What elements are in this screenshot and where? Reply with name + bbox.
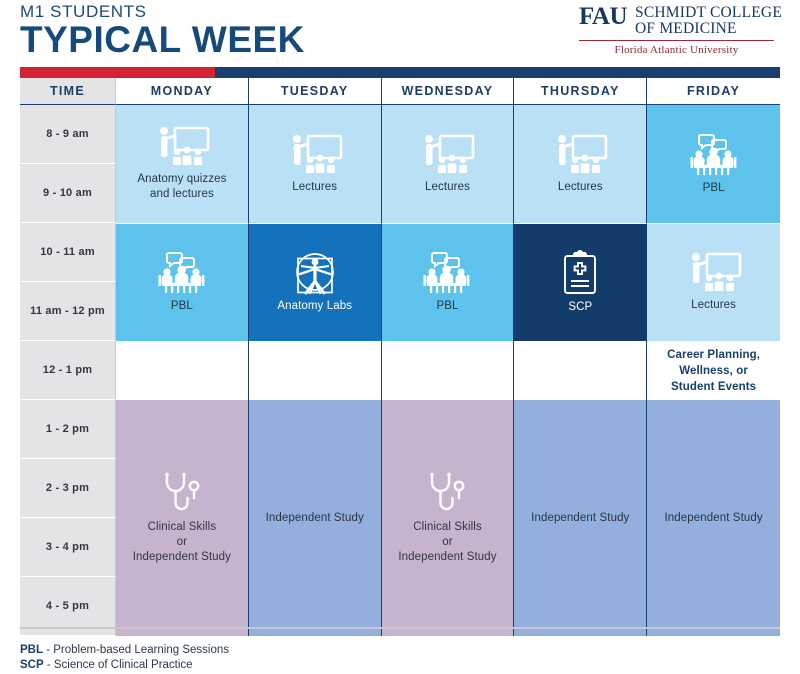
legend: PBL - Problem-based Learning Sessions SC…	[20, 643, 229, 673]
logo-line-2: OF MEDICINE	[635, 21, 782, 37]
time-cell: 3 - 4 pm	[20, 518, 116, 577]
cell-label: Independent Study	[266, 511, 364, 526]
cell-wednesday-noon[interactable]	[382, 341, 515, 400]
logo-divider	[579, 40, 774, 41]
cell-monday-noon[interactable]	[116, 341, 249, 400]
column-header-wednesday: WEDNESDAY	[382, 78, 515, 105]
time-cell: 2 - 3 pm	[20, 459, 116, 518]
cell-label: PBL	[436, 299, 458, 314]
cell-label: Independent Study	[531, 511, 629, 526]
cell-monday-morning[interactable]: Anatomy quizzes and lectures	[116, 105, 249, 223]
cell-label: Clinical Skills or Independent Study	[398, 520, 496, 565]
column-header-thursday: THURSDAY	[514, 78, 647, 105]
pbl-icon	[685, 133, 743, 177]
cell-friday-afternoon[interactable]: Independent Study	[647, 400, 780, 636]
cell-friday-morning[interactable]: PBL	[647, 105, 780, 223]
cell-tuesday-morning[interactable]: Lectures	[249, 105, 382, 223]
cell-monday-midday[interactable]: PBL	[116, 223, 249, 341]
stethoscope-icon	[424, 472, 470, 516]
lecture-icon	[418, 134, 476, 176]
time-cell: 8 - 9 am	[20, 105, 116, 164]
time-cell: 10 - 11 am	[20, 223, 116, 282]
cell-label: Lectures	[558, 180, 603, 195]
legend-item-pbl: PBL - Problem-based Learning Sessions	[20, 643, 229, 658]
title-block: M1 STUDENTS TYPICAL WEEK	[20, 2, 305, 60]
grid-bottom-border	[20, 627, 780, 629]
cell-wednesday-afternoon[interactable]: Clinical Skills or Independent Study	[382, 400, 515, 636]
cell-label: SCP	[568, 300, 592, 315]
cell-tuesday-midday[interactable]: Anatomy Labs	[249, 223, 382, 341]
cell-wednesday-midday[interactable]: PBL	[382, 223, 515, 341]
cell-label: Independent Study	[664, 511, 762, 526]
lecture-icon	[685, 252, 743, 294]
legend-abbr-scp: SCP	[20, 659, 44, 671]
cell-thursday-morning[interactable]: Lectures	[514, 105, 647, 223]
legend-abbr-pbl: PBL	[20, 644, 43, 656]
time-cell: 12 - 1 pm	[20, 341, 116, 400]
legend-text-pbl: - Problem-based Learning Sessions	[43, 644, 229, 656]
cell-label: Lectures	[292, 180, 337, 195]
time-cell: 9 - 10 am	[20, 164, 116, 223]
cell-label: Clinical Skills or Independent Study	[133, 520, 231, 565]
legend-item-scp: SCP - Science of Clinical Practice	[20, 658, 229, 673]
cell-wednesday-morning[interactable]: Lectures	[382, 105, 515, 223]
cell-tuesday-noon[interactable]	[249, 341, 382, 400]
legend-text-scp: - Science of Clinical Practice	[44, 659, 193, 671]
cell-thursday-midday[interactable]: SCP	[514, 223, 647, 341]
cell-label: Anatomy Labs	[277, 299, 352, 314]
cell-label: PBL	[703, 181, 725, 196]
cell-thursday-afternoon[interactable]: Independent Study	[514, 400, 647, 636]
pbl-icon	[153, 251, 211, 295]
page-title: TYPICAL WEEK	[20, 20, 305, 60]
page-header: M1 STUDENTS TYPICAL WEEK FAU SCHMIDT COL…	[0, 0, 800, 66]
logo-subtitle: Florida Atlantic University	[579, 44, 774, 56]
cell-tuesday-afternoon[interactable]: Independent Study	[249, 400, 382, 636]
lecture-icon	[551, 134, 609, 176]
cell-friday-noon[interactable]: Career Planning, Wellness, or Student Ev…	[647, 341, 780, 400]
cell-label: Anatomy quizzes and lectures	[137, 172, 226, 202]
column-header-monday: MONDAY	[116, 78, 249, 105]
cell-thursday-noon[interactable]	[514, 341, 647, 400]
pbl-icon	[418, 251, 476, 295]
cell-label: Lectures	[425, 180, 470, 195]
cell-label: PBL	[171, 299, 193, 314]
column-header-tuesday: TUESDAY	[249, 78, 382, 105]
clipboard-medical-icon	[560, 250, 600, 296]
column-header-friday: FRIDAY	[647, 78, 780, 105]
fau-wordmark-icon: FAU	[579, 4, 627, 29]
cell-label: Career Planning, Wellness, or Student Ev…	[667, 347, 760, 395]
stethoscope-icon	[159, 472, 205, 516]
cell-friday-midday[interactable]: Lectures	[647, 223, 780, 341]
lecture-icon	[153, 126, 211, 168]
time-cell: 11 am - 12 pm	[20, 282, 116, 341]
accent-bar-red	[20, 67, 215, 78]
accent-bar	[20, 67, 780, 78]
cell-label: Lectures	[691, 298, 736, 313]
accent-bar-navy	[215, 67, 780, 78]
column-header-time: TIME	[20, 78, 116, 105]
schedule-grid: TIME MONDAY TUESDAY WEDNESDAY THURSDAY F…	[20, 78, 780, 636]
vitruvian-icon	[291, 251, 339, 295]
time-cell: 1 - 2 pm	[20, 400, 116, 459]
lecture-icon	[286, 134, 344, 176]
cell-monday-afternoon[interactable]: Clinical Skills or Independent Study	[116, 400, 249, 636]
fau-logo: FAU SCHMIDT COLLEGE OF MEDICINE Florida …	[579, 5, 774, 56]
logo-line-1: SCHMIDT COLLEGE	[635, 5, 782, 21]
